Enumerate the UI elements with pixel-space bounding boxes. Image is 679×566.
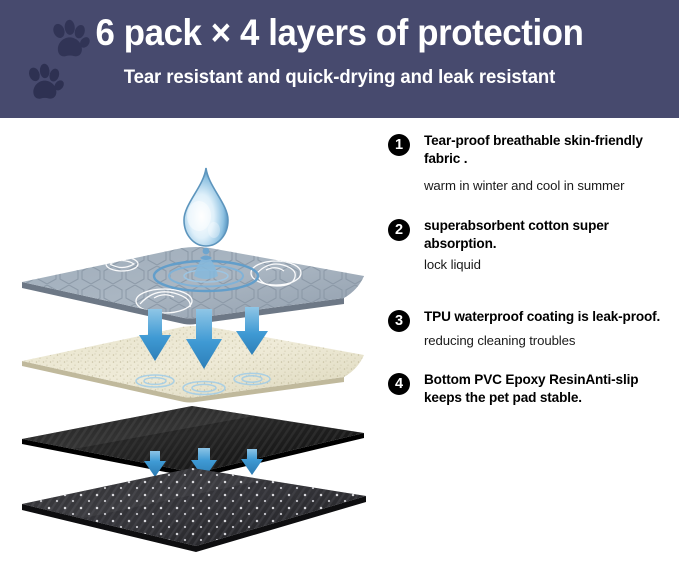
pvc-antislip-layer xyxy=(14,466,374,552)
page-subtitle: Tear resistant and quick-drying and leak… xyxy=(17,66,662,89)
feature-number-badge: 4 xyxy=(388,373,410,395)
product-infographic: 6 pack × 4 layers of protection Tear res… xyxy=(0,0,679,566)
feature-title: Bottom PVC Epoxy ResinAnti-slip keeps th… xyxy=(424,371,679,407)
feature-subtitle: warm in winter and cool in summer xyxy=(424,177,679,194)
feature-title: Tear-proof breathable skin-friendly fabr… xyxy=(424,132,679,168)
feature-number-badge: 2 xyxy=(388,219,410,241)
feature-title: superabsorbent cotton super absorption. xyxy=(424,217,679,253)
feature-subtitle: lock liquid xyxy=(424,256,679,273)
page-title: 6 pack × 4 layers of protection xyxy=(20,12,658,54)
feature-title: TPU waterproof coating is leak-proof. xyxy=(424,308,679,326)
feature-number-badge: 1 xyxy=(388,134,410,156)
surface-fabric-layer xyxy=(14,246,374,326)
feature-list: 1 Tear-proof breathable skin-friendly fa… xyxy=(388,118,679,566)
header-banner: 6 pack × 4 layers of protection Tear res… xyxy=(0,0,679,118)
absorbent-cotton-layer xyxy=(14,325,374,405)
feature-number-badge: 3 xyxy=(388,310,410,332)
water-droplet-icon xyxy=(178,166,234,252)
feature-subtitle: reducing cleaning troubles xyxy=(424,332,679,349)
